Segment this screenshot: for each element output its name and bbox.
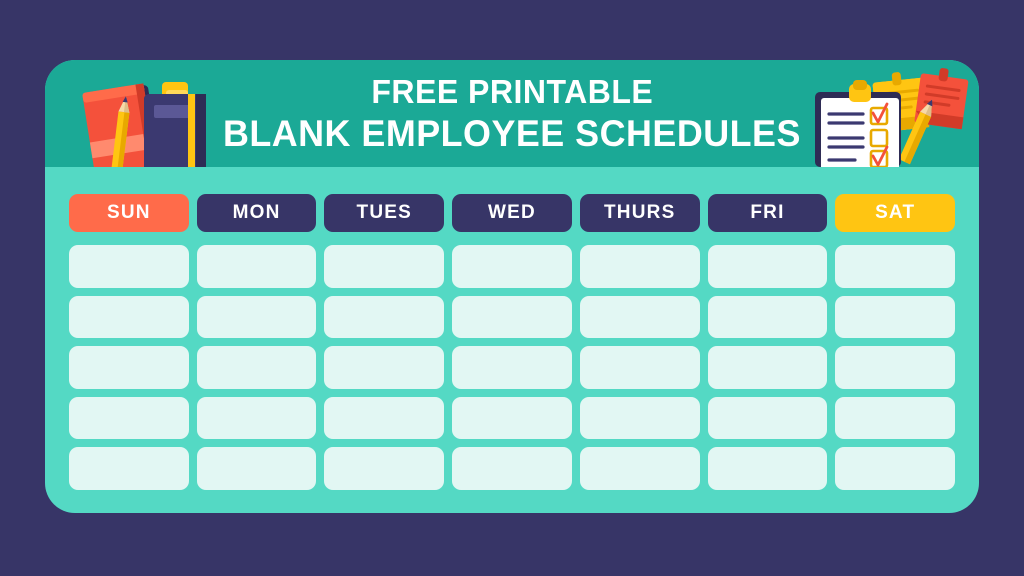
schedule-cell[interactable] — [835, 397, 955, 440]
schedule-cell[interactable] — [835, 296, 955, 339]
schedule-cells — [69, 245, 955, 490]
day-header-mon[interactable]: MON — [197, 194, 317, 232]
schedule-cell[interactable] — [708, 346, 828, 389]
schedule-cell[interactable] — [580, 346, 700, 389]
schedule-cell[interactable] — [69, 397, 189, 440]
day-header-thurs[interactable]: THURS — [580, 194, 700, 232]
schedule-cell[interactable] — [835, 346, 955, 389]
schedule-row — [69, 397, 955, 440]
schedule-cell[interactable] — [69, 245, 189, 288]
schedule-cell[interactable] — [324, 447, 444, 490]
day-header-tues[interactable]: TUES — [324, 194, 444, 232]
schedule-cell[interactable] — [197, 245, 317, 288]
day-header-sat-label: SAT — [875, 202, 915, 224]
day-header-thurs-label: THURS — [604, 202, 675, 224]
day-header-sun[interactable]: SUN — [69, 194, 189, 232]
schedule-cell[interactable] — [324, 245, 444, 288]
schedule-card: FREE PRINTABLE BLANK EMPLOYEE SCHEDULES … — [45, 60, 979, 513]
day-header-tues-label: TUES — [357, 202, 412, 224]
day-header-row: SUN MON TUES WED THURS FRI SAT — [69, 194, 955, 232]
schedule-cell[interactable] — [708, 245, 828, 288]
notebooks-and-pencil-icon — [70, 72, 230, 167]
schedule-cell[interactable] — [69, 447, 189, 490]
day-header-sun-label: SUN — [107, 202, 151, 224]
day-header-fri[interactable]: FRI — [708, 194, 828, 232]
schedule-cell[interactable] — [452, 397, 572, 440]
schedule-cell[interactable] — [452, 346, 572, 389]
schedule-grid: SUN MON TUES WED THURS FRI SAT — [45, 167, 979, 513]
schedule-cell[interactable] — [324, 296, 444, 339]
schedule-row — [69, 245, 955, 288]
schedule-cell[interactable] — [197, 447, 317, 490]
schedule-row — [69, 447, 955, 490]
schedule-cell[interactable] — [580, 397, 700, 440]
schedule-cell[interactable] — [580, 296, 700, 339]
day-header-wed-label: WED — [488, 202, 536, 224]
schedule-cell[interactable] — [580, 447, 700, 490]
schedule-cell[interactable] — [197, 296, 317, 339]
schedule-cell[interactable] — [324, 346, 444, 389]
schedule-cell[interactable] — [708, 296, 828, 339]
schedule-cell[interactable] — [69, 296, 189, 339]
schedule-poster: FREE PRINTABLE BLANK EMPLOYEE SCHEDULES … — [0, 0, 1024, 576]
schedule-cell[interactable] — [324, 397, 444, 440]
schedule-row — [69, 296, 955, 339]
schedule-cell[interactable] — [69, 346, 189, 389]
schedule-cell[interactable] — [835, 245, 955, 288]
day-header-sat[interactable]: SAT — [835, 194, 955, 232]
schedule-cell[interactable] — [835, 447, 955, 490]
schedule-cell[interactable] — [197, 397, 317, 440]
card-header: FREE PRINTABLE BLANK EMPLOYEE SCHEDULES — [45, 60, 979, 167]
day-header-mon-label: MON — [233, 202, 281, 224]
schedule-cell[interactable] — [452, 447, 572, 490]
day-header-wed[interactable]: WED — [452, 194, 572, 232]
schedule-row — [69, 346, 955, 389]
schedule-cell[interactable] — [452, 245, 572, 288]
schedule-cell[interactable] — [452, 296, 572, 339]
schedule-cell[interactable] — [580, 245, 700, 288]
title-line-one: FREE PRINTABLE — [371, 72, 653, 112]
schedule-cell[interactable] — [708, 397, 828, 440]
clipboard-checklist-sticky-notes-pencil-icon — [805, 66, 979, 167]
day-header-fri-label: FRI — [750, 202, 784, 224]
schedule-cell[interactable] — [197, 346, 317, 389]
title-line-two: BLANK EMPLOYEE SCHEDULES — [223, 112, 801, 155]
schedule-cell[interactable] — [708, 447, 828, 490]
